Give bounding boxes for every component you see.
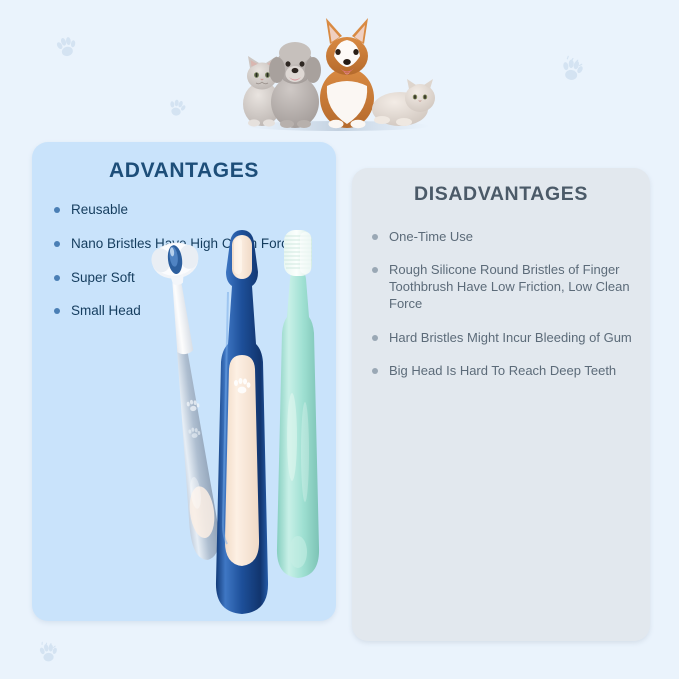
advantage-item-label: Reusable	[71, 201, 326, 219]
paw-print-icon	[50, 30, 82, 62]
toothbrush-lineup	[150, 222, 335, 622]
bullet-dot-icon	[54, 241, 60, 247]
disadvantage-item: Big Head Is Hard To Reach Deep Teeth	[372, 362, 638, 379]
bullet-dot-icon	[54, 275, 60, 281]
disadvantage-item-label: Hard Bristles Might Incur Bleeding of Gu…	[389, 329, 638, 346]
infographic-stage: ADVANTAGES ReusableNano Bristles Have Hi…	[0, 0, 679, 679]
advantage-item: Reusable	[54, 201, 326, 219]
gray-poodle	[269, 42, 321, 128]
corgi-dog	[320, 18, 374, 128]
disadvantages-panel: DISADVANTAGES One-Time UseRough Silicone…	[352, 168, 650, 641]
disadvantages-title: DISADVANTAGES	[352, 183, 650, 206]
disadvantages-list: One-Time UseRough Silicone Round Bristle…	[372, 228, 638, 379]
paw-print-icon	[35, 639, 61, 665]
pets-group-photo	[232, 6, 444, 132]
paw-print-top-right	[556, 53, 588, 85]
advantages-title: ADVANTAGES	[32, 159, 336, 183]
mint-nano-toothbrush	[277, 230, 319, 578]
paw-print-bottom-left	[35, 639, 61, 665]
disadvantage-item: Hard Bristles Might Incur Bleeding of Gu…	[372, 329, 638, 346]
bullet-dot-icon	[54, 308, 60, 314]
cream-cat	[372, 79, 435, 126]
paw-print-upper-mid	[164, 94, 190, 120]
disadvantage-item-label: Big Head Is Hard To Reach Deep Teeth	[389, 362, 638, 379]
disadvantage-item: Rough Silicone Round Bristles of Finger …	[372, 261, 638, 312]
disadvantage-item-label: Rough Silicone Round Bristles of Finger …	[389, 261, 638, 312]
paw-print-top-left	[50, 30, 82, 62]
bullet-dot-icon	[372, 335, 378, 341]
paw-print-icon	[164, 94, 190, 120]
bullet-dot-icon	[372, 368, 378, 374]
disadvantage-item: One-Time Use	[372, 228, 638, 245]
paw-print-icon	[556, 53, 588, 85]
bullet-dot-icon	[372, 234, 378, 240]
bullet-dot-icon	[372, 267, 378, 273]
disadvantage-item-label: One-Time Use	[389, 228, 638, 245]
bullet-dot-icon	[54, 207, 60, 213]
blue-nano-toothbrush	[216, 230, 268, 614]
